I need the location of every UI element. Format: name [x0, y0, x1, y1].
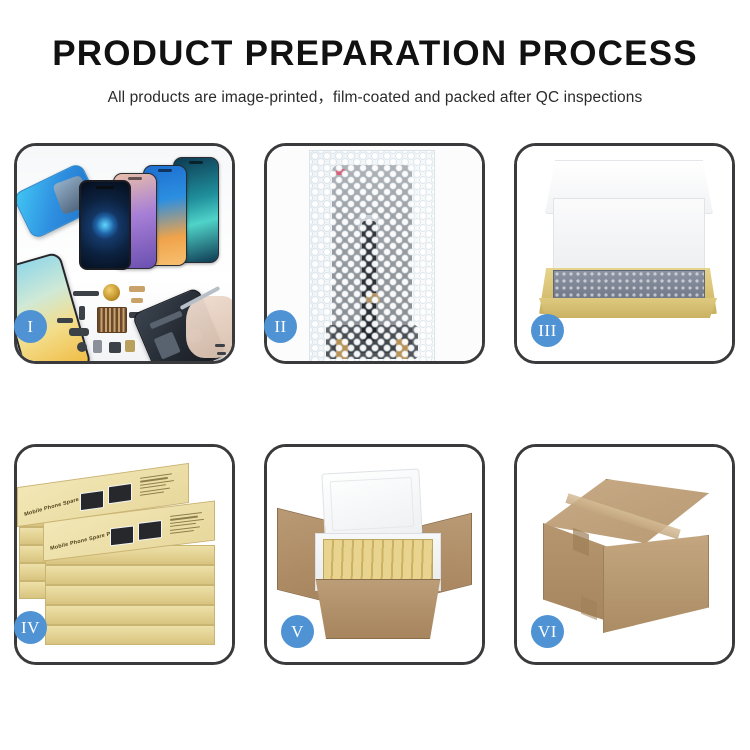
chip-grid-component: [97, 307, 127, 333]
step-badge-4: IV: [14, 611, 47, 644]
white-foam-sheet: [553, 198, 705, 276]
bubble-wrap-bag: [309, 150, 435, 361]
process-step-panel-6: VI: [514, 444, 735, 665]
phone-dark-display: [79, 180, 131, 270]
process-step-panel-3: III: [514, 143, 735, 364]
foam-lid: [321, 468, 422, 539]
process-step-grid: I II: [14, 143, 736, 665]
page-title: PRODUCT PREPARATION PROCESS: [0, 36, 750, 73]
process-step-panel-4: Mobile Phone Spare Parts Mobile Phone Sp…: [14, 444, 235, 665]
bubble-wrapped-contents: [553, 270, 705, 302]
bubble-pattern: [310, 151, 434, 361]
step-badge-5: V: [281, 615, 314, 648]
speaker-component: [103, 284, 120, 301]
step-badge-1: I: [14, 310, 47, 343]
process-step-panel-5: V: [264, 444, 485, 665]
process-step-panel-1: I: [14, 143, 235, 364]
step-2-image: [267, 146, 482, 361]
process-step-panel-2: II: [264, 143, 485, 364]
step-badge-3: III: [531, 314, 564, 347]
packed-retail-boxes: [323, 539, 433, 581]
step-badge-6: VI: [531, 615, 564, 648]
step-badge-2: II: [264, 310, 297, 343]
page-subtitle: All products are image-printed，film-coat…: [0, 85, 750, 107]
technician-hand: [186, 296, 232, 358]
page-header: PRODUCT PREPARATION PROCESS All products…: [0, 0, 750, 107]
step-1-image: [17, 146, 232, 361]
product-preparation-page: PRODUCT PREPARATION PROCESS All products…: [0, 0, 750, 750]
step-4-image: Mobile Phone Spare Parts Mobile Phone Sp…: [17, 447, 232, 662]
kraft-box-front-wall: [539, 298, 717, 318]
carton-body: [313, 579, 443, 639]
